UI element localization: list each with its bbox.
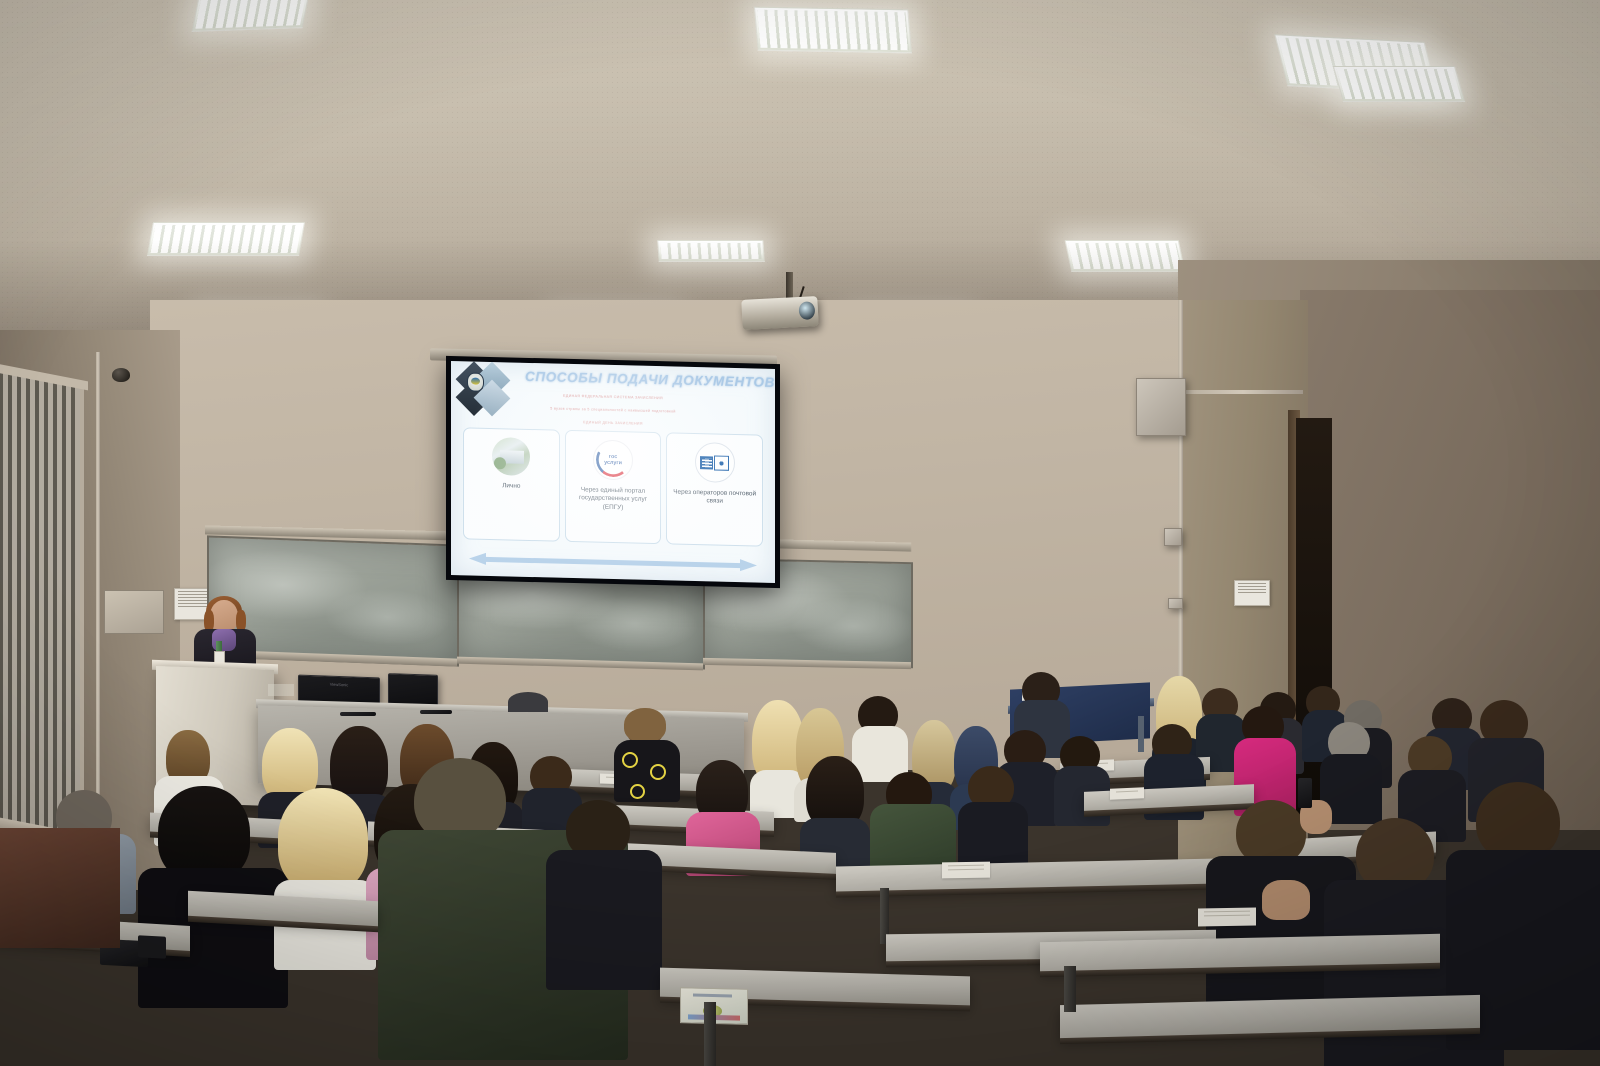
- gosuslugi-logo-icon: гос услуги: [593, 440, 633, 481]
- post-logo-right-block: [714, 455, 729, 470]
- ceiling-light-panel: [1333, 66, 1465, 102]
- smiley-print-icon: [650, 764, 666, 780]
- wall-outlet-box: [1168, 598, 1183, 609]
- arrow-left-head: [469, 552, 486, 564]
- desk-label-plate: [268, 684, 294, 696]
- slide-card-label: Лично: [499, 482, 523, 491]
- window: [0, 369, 84, 856]
- slide-subtitle-3: ЕДИНЫЙ ДЕНЬ ЗАЧИСЛЕНИЯ: [451, 417, 775, 429]
- ceiling-light-panel: [192, 0, 311, 32]
- security-camera-icon: [112, 368, 130, 382]
- attendee-torso: [614, 740, 680, 802]
- double-headed-arrow-icon: [469, 552, 757, 572]
- university-crest-icon: [467, 372, 484, 391]
- chair-back: [508, 692, 548, 712]
- projector-lens-icon: [798, 301, 815, 320]
- post-logo-left-block: [700, 456, 713, 469]
- presentation-slide: СПОСОБЫ ПОДАЧИ ДОКУМЕНТОВ ЕДИНАЯ ФЕДЕРАЛ…: [451, 361, 775, 583]
- ceiling-light-panel: [754, 7, 912, 54]
- slide-card-label: Через операторов почтовой связи: [667, 488, 762, 507]
- handout-sheet: [942, 862, 990, 879]
- safety-notice-sign: [1234, 580, 1270, 606]
- smartphone: [1298, 778, 1312, 808]
- wall-conduit: [1178, 300, 1183, 700]
- smiley-print-icon: [630, 784, 645, 799]
- wall-switch-box: [1164, 528, 1182, 546]
- slide-card-label: Через единый портал государственных услу…: [566, 486, 661, 514]
- floor-left: [0, 828, 120, 948]
- attendee-hair: [278, 788, 368, 892]
- vertical-blinds: [0, 369, 80, 856]
- brochure-title-line: [693, 994, 733, 998]
- wall-conduit: [96, 352, 100, 812]
- tablet-case: [138, 935, 166, 958]
- arrow-right-head: [740, 559, 757, 571]
- slide-card-in-person: Лично: [463, 427, 560, 541]
- pochta-rossii-logo-icon: [695, 442, 735, 483]
- side-table-leg: [1138, 716, 1144, 752]
- projector-mount: [786, 272, 793, 300]
- campus-photo-icon: [492, 437, 530, 476]
- arrow-bar: [485, 557, 741, 568]
- gosuslugi-logo-line-2: услуги: [604, 460, 622, 466]
- projector: [741, 296, 818, 330]
- desk-leg: [1064, 966, 1076, 1012]
- smiley-print-icon: [622, 752, 638, 768]
- slide-cards-row: Лично гос услуги Через единый портал гос…: [463, 427, 763, 546]
- projection-screen: СПОСОБЫ ПОДАЧИ ДОКУМЕНТОВ ЕДИНАЯ ФЕДЕРАЛ…: [446, 356, 780, 588]
- slide-subtitle-2: 5 вузов страны за 5 специальностей с наи…: [451, 404, 775, 416]
- audience-desk: [1060, 995, 1480, 1039]
- slide-card-gosuslugi: гос услуги Через единый портал государст…: [565, 430, 662, 544]
- handout-sheet: [1110, 787, 1144, 799]
- slide-card-post: Через операторов почтовой связи: [666, 432, 763, 546]
- attendee-torso: [546, 850, 662, 990]
- monitor-brand-label: ViewSonic: [330, 682, 349, 688]
- desk-leg: [704, 1002, 716, 1066]
- attendee-hand-shape: [1262, 880, 1310, 920]
- cable-on-desk: [420, 710, 452, 714]
- handout-sheet: [1198, 907, 1256, 926]
- wall-access-panel: [104, 590, 164, 634]
- electrical-cabinet: [1136, 378, 1186, 436]
- university-emblem-logo: [455, 364, 517, 410]
- attendee-hair: [624, 708, 666, 742]
- cable-on-desk: [340, 712, 376, 716]
- ceiling-conduit: [1183, 390, 1303, 394]
- slide-title: СПОСОБЫ ПОДАЧИ ДОКУМЕНТОВ: [519, 369, 775, 390]
- lecture-hall-photo: СПОСОБЫ ПОДАЧИ ДОКУМЕНТОВ ЕДИНАЯ ФЕДЕРАЛ…: [0, 0, 1600, 1066]
